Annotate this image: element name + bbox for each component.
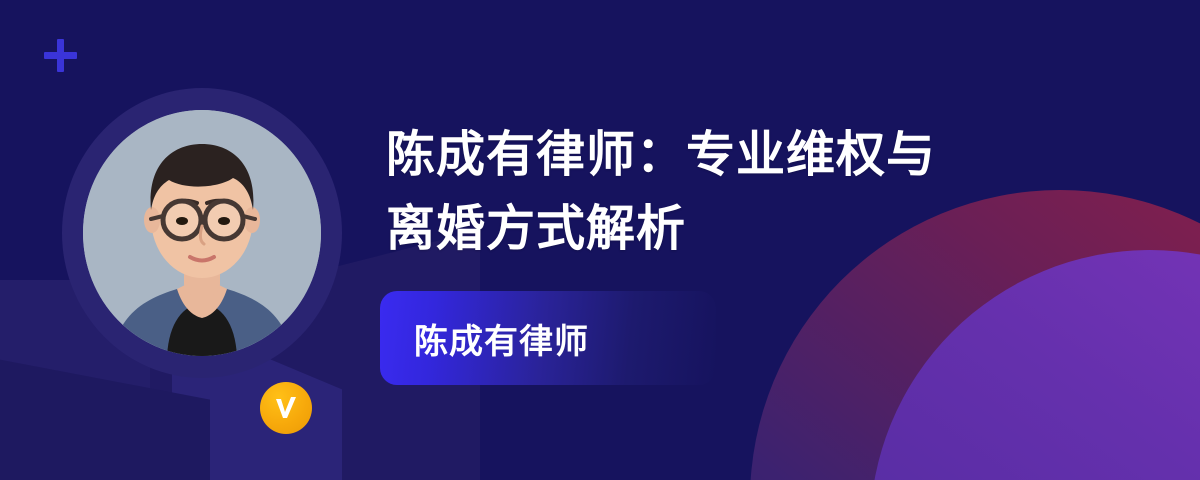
headline-block: 陈成有律师：专业维权与 离婚方式解析 (386, 118, 1146, 266)
lawyer-profile-banner: 陈成有律师：专业维权与 离婚方式解析 陈成有律师 (0, 0, 1200, 480)
decorative-blob-purple (870, 250, 1200, 480)
lawyer-name-button[interactable]: 陈成有律师 (380, 291, 716, 385)
page-title: 陈成有律师：专业维权与 离婚方式解析 (386, 118, 1146, 266)
avatar (62, 88, 342, 378)
avatar-photo (83, 110, 321, 356)
verified-v-icon (260, 382, 312, 434)
plus-icon (44, 39, 77, 72)
